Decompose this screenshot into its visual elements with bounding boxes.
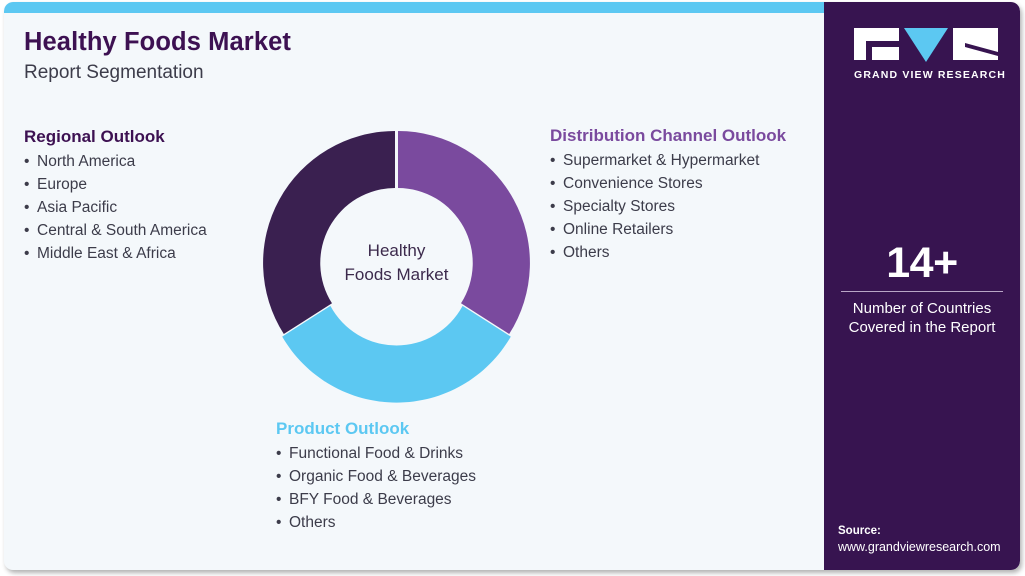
list-item: •Central & South America xyxy=(24,219,207,242)
product-outlook-group: Product Outlook •Functional Food & Drink… xyxy=(276,418,476,534)
donut-segment-regional xyxy=(263,131,395,334)
product-outlook-title: Product Outlook xyxy=(276,418,476,440)
list-item-label: Convenience Stores xyxy=(563,175,703,192)
headline-block: Healthy Foods Market Report Segmentation xyxy=(24,27,644,85)
bullet-icon: • xyxy=(550,195,563,218)
bullet-icon: • xyxy=(276,465,289,488)
list-item-label: Central & South America xyxy=(37,222,207,239)
stat-caption-line-2: Covered in the Report xyxy=(824,318,1020,337)
regional-outlook-title: Regional Outlook xyxy=(24,126,207,148)
bullet-icon: • xyxy=(276,488,289,511)
list-item-label: Europe xyxy=(37,176,87,193)
bullet-icon: • xyxy=(550,149,563,172)
source-block: Source: www.grandviewresearch.com xyxy=(838,523,1018,556)
bullet-icon: • xyxy=(24,173,37,196)
list-item: •Asia Pacific xyxy=(24,196,207,219)
top-accent-bar xyxy=(4,2,824,13)
list-item-label: Asia Pacific xyxy=(37,199,117,216)
bullet-icon: • xyxy=(550,218,563,241)
list-item-label: Others xyxy=(289,514,336,531)
list-item-label: Organic Food & Beverages xyxy=(289,468,476,485)
list-item: •Europe xyxy=(24,173,207,196)
stat-value: 14+ xyxy=(824,240,1020,286)
list-item-label: North America xyxy=(37,153,135,170)
infographic-root: Healthy Foods Market Report Segmentation… xyxy=(0,0,1025,576)
list-item-label: Supermarket & Hypermarket xyxy=(563,152,759,169)
bullet-icon: • xyxy=(550,241,563,264)
list-item: •Specialty Stores xyxy=(550,195,820,218)
list-item-label: Middle East & Africa xyxy=(37,245,176,262)
gvr-logo-icon xyxy=(854,26,998,62)
list-item-label: Online Retailers xyxy=(563,221,673,238)
distribution-channel-outlook-group: Distribution Channel Outlook •Supermarke… xyxy=(550,125,820,264)
source-url[interactable]: www.grandviewresearch.com xyxy=(838,539,1018,556)
source-label: Source: xyxy=(838,523,1018,539)
brand-logo: GRAND VIEW RESEARCH xyxy=(854,26,998,81)
product-outlook-list: •Functional Food & Drinks •Organic Food … xyxy=(276,442,476,534)
distribution-channel-outlook-list: •Supermarket & Hypermarket •Convenience … xyxy=(550,149,820,264)
country-count-stat: 14+ Number of Countries Covered in the R… xyxy=(824,240,1020,337)
bullet-icon: • xyxy=(24,196,37,219)
list-item: •Organic Food & Beverages xyxy=(276,465,476,488)
bullet-icon: • xyxy=(24,219,37,242)
page-title: Healthy Foods Market xyxy=(24,27,644,58)
segmentation-donut-chart: Healthy Foods Market xyxy=(263,120,530,406)
bullet-icon: • xyxy=(276,442,289,465)
bullet-icon: • xyxy=(550,172,563,195)
stat-divider xyxy=(841,291,1003,292)
brand-logo-text: GRAND VIEW RESEARCH xyxy=(854,69,998,81)
list-item-label: Functional Food & Drinks xyxy=(289,445,463,462)
list-item: •Others xyxy=(276,511,476,534)
donut-segment-distribution xyxy=(398,131,530,334)
stat-caption-line-1: Number of Countries xyxy=(824,299,1020,318)
brand-side-panel: GRAND VIEW RESEARCH 14+ Number of Countr… xyxy=(824,2,1020,570)
list-item: •Middle East & Africa xyxy=(24,242,207,265)
regional-outlook-list: •North America •Europe •Asia Pacific •Ce… xyxy=(24,150,207,265)
list-item: •Convenience Stores xyxy=(550,172,820,195)
list-item: •Online Retailers xyxy=(550,218,820,241)
distribution-channel-outlook-title: Distribution Channel Outlook xyxy=(550,125,820,147)
list-item: •North America xyxy=(24,150,207,173)
list-item: •Functional Food & Drinks xyxy=(276,442,476,465)
list-item: •Supermarket & Hypermarket xyxy=(550,149,820,172)
list-item-label: Others xyxy=(563,244,610,261)
list-item-label: BFY Food & Beverages xyxy=(289,491,452,508)
donut-svg xyxy=(263,120,530,406)
donut-segment-product xyxy=(282,306,511,403)
list-item-label: Specialty Stores xyxy=(563,198,675,215)
list-item: •Others xyxy=(550,241,820,264)
bullet-icon: • xyxy=(24,150,37,173)
regional-outlook-group: Regional Outlook •North America •Europe … xyxy=(24,126,207,265)
bullet-icon: • xyxy=(24,242,37,265)
page-subtitle: Report Segmentation xyxy=(24,61,644,85)
list-item: •BFY Food & Beverages xyxy=(276,488,476,511)
bullet-icon: • xyxy=(276,511,289,534)
report-card: Healthy Foods Market Report Segmentation… xyxy=(4,2,1020,570)
